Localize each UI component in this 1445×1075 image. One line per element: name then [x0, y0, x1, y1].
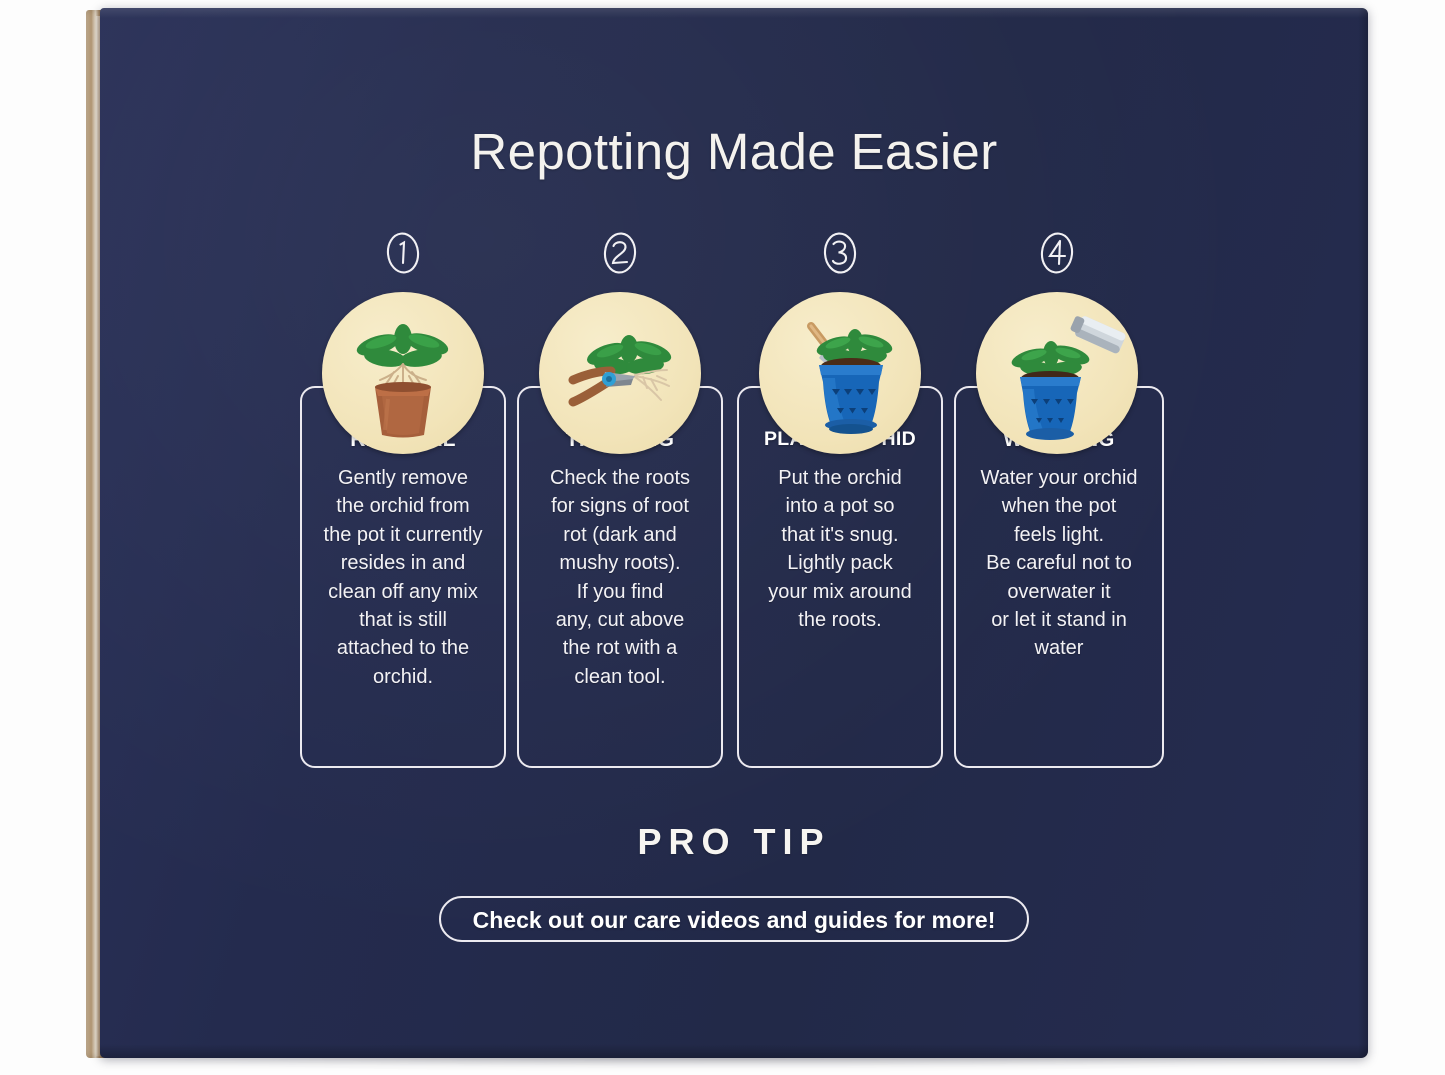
pruning-shears-trimming-roots-icon: [539, 292, 701, 454]
panel-top-edge-highlight: [100, 8, 1368, 18]
step-3-body: Put the orchid into a pot so that it's s…: [743, 464, 937, 634]
step-1-body: Gently remove the orchid from the pot it…: [306, 464, 500, 691]
step-card-removal: REMOVAL Gently remove the orchid from th…: [300, 230, 506, 775]
step-card-trimming: TRIMMING Check the roots for signs of ro…: [517, 230, 723, 775]
pro-tip-label: PRO TIP: [100, 821, 1368, 863]
step-card-watering: WATERING Water your orchid when the pot …: [954, 230, 1160, 775]
page-title: Repotting Made Easier: [100, 122, 1368, 181]
step-number-badge-2: [599, 230, 641, 276]
screenshot-canvas: Repotting Made Easier REMOVAL Gently rem…: [0, 0, 1445, 1075]
steps-row: REMOVAL Gently remove the orchid from th…: [296, 230, 1176, 775]
step-number-badge-4: [1036, 230, 1078, 276]
step-number-badge-1: [382, 230, 424, 276]
step-number-badge-3: [819, 230, 861, 276]
watering-can-over-potted-orchid-icon: [976, 292, 1138, 454]
panel-bottom-edge-shade: [100, 1044, 1368, 1058]
step-4-body: Water your orchid when the pot feels lig…: [960, 464, 1158, 663]
orchid-in-blue-pot-with-trowel-icon: [759, 292, 921, 454]
step-2-body: Check the roots for signs of root rot (d…: [523, 464, 717, 691]
step-card-place-orchid: PLACE ORCHID Put the orchid into a pot s…: [737, 230, 943, 775]
orchid-lifted-from-terracotta-pot-icon: [322, 292, 484, 454]
box-back-panel: Repotting Made Easier REMOVAL Gently rem…: [100, 8, 1368, 1058]
care-videos-cta-pill[interactable]: Check out our care videos and guides for…: [439, 896, 1029, 942]
